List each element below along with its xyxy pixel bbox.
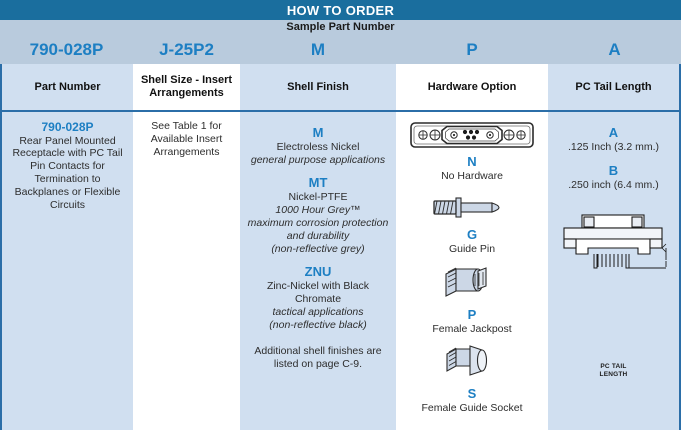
female-guide-socket-icon	[396, 343, 548, 383]
hardware-label-g: Guide Pin	[396, 243, 548, 256]
pc-tail-code-a: A	[548, 125, 679, 141]
hardware-option-p: P Female Jackpost	[396, 264, 548, 335]
shell-finish-name-znu: Zinc-Nickel with Black Chromate	[240, 280, 396, 306]
column-header-hardware-option: Hardware Option	[396, 64, 548, 112]
column-body-shell-size: See Table 1 for Available Insert Arrange…	[133, 112, 240, 428]
hardware-option-g: G Guide Pin	[396, 190, 548, 255]
banner-title: HOW TO ORDER	[287, 3, 394, 18]
sample-code-pc-tail-length: A	[548, 35, 681, 64]
column-shell-size: Shell Size - Insert Arrangements See Tab…	[133, 64, 240, 430]
pc-tail-option-b: B .250 inch (6.4 mm.)	[548, 163, 679, 192]
shell-finish-note-znu-1: tactical applications	[240, 306, 396, 319]
how-to-order-banner: HOW TO ORDER	[0, 0, 681, 20]
pc-tail-length-diagram-icon	[548, 209, 679, 289]
part-number-code: 790-028P	[2, 120, 133, 135]
pc-tail-caption-line1: PC TAIL	[548, 363, 679, 370]
column-part-number: Part Number 790-028P Rear Panel Mounted …	[0, 64, 133, 430]
shell-finish-note-m-1: general purpose applications	[240, 154, 396, 167]
shell-finish-code-znu: ZNU	[240, 264, 396, 280]
hardware-label-p: Female Jackpost	[396, 323, 548, 336]
hardware-code-s: S	[396, 386, 548, 402]
hardware-option-n: N No Hardware	[396, 120, 548, 182]
d-sub-connector-face-icon	[396, 120, 548, 150]
pc-tail-option-a: A .125 Inch (3.2 mm.)	[548, 125, 679, 154]
hardware-code-p: P	[396, 307, 548, 323]
hardware-code-n: N	[396, 154, 548, 170]
hardware-label-n: No Hardware	[396, 170, 548, 183]
shell-finish-option-m: M Electroless Nickel general purpose app…	[240, 125, 396, 166]
female-jackpost-icon	[396, 264, 548, 304]
shell-finish-code-m: M	[240, 125, 396, 141]
pc-tail-label-a: .125 Inch (3.2 mm.)	[548, 141, 679, 154]
shell-finish-name-mt: Nickel-PTFE	[240, 191, 396, 204]
shell-finish-option-znu: ZNU Zinc-Nickel with Black Chromate tact…	[240, 264, 396, 331]
pc-tail-code-b: B	[548, 163, 679, 179]
column-body-hardware-option: N No Hardware	[396, 112, 548, 428]
hardware-code-g: G	[396, 227, 548, 243]
sample-code-hardware-option: P	[396, 35, 548, 64]
column-hardware-option: Hardware Option	[396, 64, 548, 430]
column-header-shell-finish: Shell Finish	[240, 64, 396, 112]
column-header-shell-size: Shell Size - Insert Arrangements	[133, 64, 240, 112]
part-number-description: Rear Panel Mounted Receptacle with PC Ta…	[2, 135, 133, 212]
column-body-part-number: 790-028P Rear Panel Mounted Receptacle w…	[2, 112, 133, 428]
pc-tail-label-b: .250 inch (6.4 mm.)	[548, 179, 679, 192]
shell-finish-note-mt-1: 1000 Hour Grey™	[240, 204, 396, 217]
order-table: Part Number 790-028P Rear Panel Mounted …	[0, 64, 681, 430]
column-header-part-number: Part Number	[2, 64, 133, 112]
sample-part-number-label: Sample Part Number	[0, 21, 681, 33]
shell-finish-note-mt-3: and durability	[240, 230, 396, 243]
how-to-order-page: HOW TO ORDER Sample Part Number 790-028P…	[0, 0, 681, 430]
shell-finish-name-m: Electroless Nickel	[240, 141, 396, 154]
sample-part-number-band: Sample Part Number 790-028P J-25P2 M P A	[0, 20, 681, 64]
sample-code-shell-finish: M	[240, 35, 396, 64]
shell-finish-footnote: Additional shell finishes are listed on …	[240, 345, 396, 371]
guide-pin-icon	[396, 190, 548, 224]
shell-finish-note-znu-2: (non-reflective black)	[240, 319, 396, 332]
column-body-shell-finish: M Electroless Nickel general purpose app…	[240, 112, 396, 428]
column-pc-tail-length: PC Tail Length A .125 Inch (3.2 mm.) B .…	[548, 64, 681, 430]
column-body-pc-tail-length: A .125 Inch (3.2 mm.) B .250 inch (6.4 m…	[548, 112, 679, 428]
hardware-label-s: Female Guide Socket	[396, 402, 548, 415]
sample-part-number-codes: 790-028P J-25P2 M P A	[0, 35, 681, 64]
sample-code-shell-size: J-25P2	[133, 35, 240, 64]
shell-finish-option-mt: MT Nickel-PTFE 1000 Hour Grey™ maximum c…	[240, 175, 396, 255]
sample-code-part-number: 790-028P	[0, 35, 133, 64]
shell-finish-code-mt: MT	[240, 175, 396, 191]
hardware-option-s: S Female Guide Socket	[396, 343, 548, 414]
shell-finish-note-mt-2: maximum corrosion protection	[240, 217, 396, 230]
pc-tail-caption-line2: LENGTH	[548, 371, 679, 378]
shell-finish-note-mt-4: (non-reflective grey)	[240, 243, 396, 256]
column-header-pc-tail-length: PC Tail Length	[548, 64, 679, 112]
shell-size-note: See Table 1 for Available Insert Arrange…	[133, 120, 240, 158]
column-shell-finish: Shell Finish M Electroless Nickel genera…	[240, 64, 396, 430]
